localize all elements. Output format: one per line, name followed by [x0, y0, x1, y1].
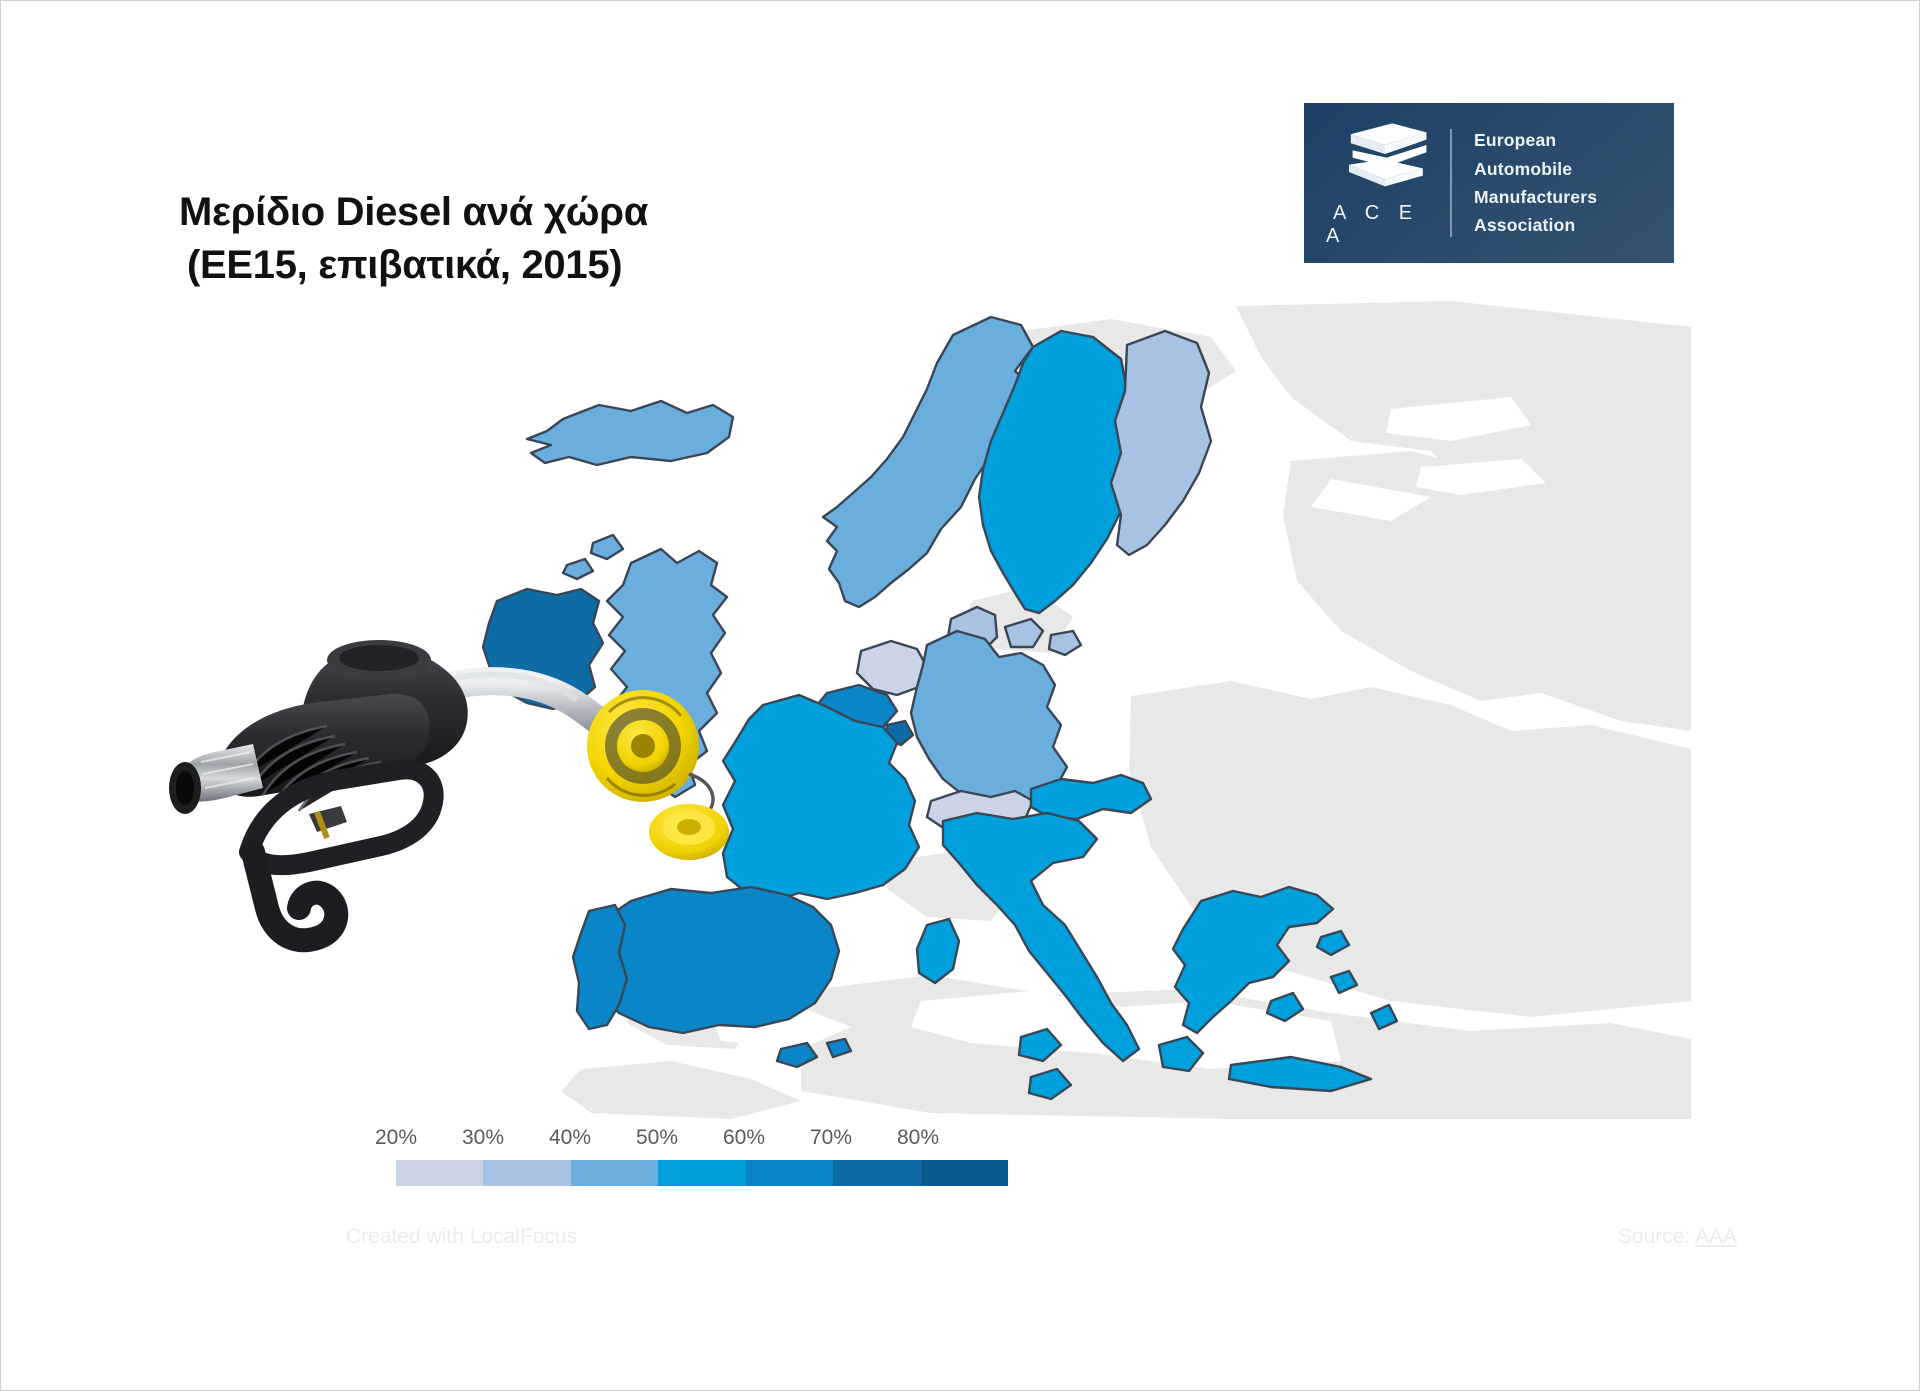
acea-tagline-line-2: Automobile — [1474, 155, 1597, 183]
legend-label-60: 60% — [723, 1126, 765, 1150]
acea-mark-column: A C E A — [1326, 118, 1444, 248]
logo-divider — [1450, 129, 1452, 237]
source-link[interactable]: AAA — [1695, 1225, 1737, 1248]
source-credit: Source: AAA — [1618, 1225, 1737, 1249]
acea-wordmark: A C E A — [1326, 202, 1444, 248]
presentation-slide: Μερίδιο Diesel ανά χώρα (ΕΕ15, επιβατικά… — [0, 0, 1920, 1391]
legend-labels: 20% 30% 40% 50% 60% 70% 80% — [346, 1126, 1011, 1160]
acea-tagline-line-1: European — [1474, 126, 1597, 154]
title-line-1: Μερίδιο Diesel ανά χώρα — [179, 186, 939, 239]
country-germany[interactable] — [911, 631, 1067, 803]
legend-label-30: 30% — [462, 1126, 504, 1150]
legend-swatch-4 — [658, 1160, 745, 1186]
fuel-nozzle-image — [141, 616, 741, 956]
legend-swatch-3 — [571, 1160, 658, 1186]
legend-label-50: 50% — [636, 1126, 678, 1150]
acea-tagline-line-3: Manufacturers — [1474, 183, 1597, 211]
country-iceland[interactable] — [527, 401, 733, 465]
legend-label-40: 40% — [549, 1126, 591, 1150]
legend-swatch-7 — [921, 1160, 1008, 1186]
map-legend: 20% 30% 40% 50% 60% 70% 80% — [346, 1126, 1011, 1186]
acea-tagline-line-4: Association — [1474, 211, 1597, 239]
legend-label-20: 20% — [375, 1126, 417, 1150]
legend-swatch-2 — [483, 1160, 570, 1186]
legend-swatch-6 — [833, 1160, 920, 1186]
acea-tagline: European Automobile Manufacturers Associ… — [1474, 126, 1597, 239]
legend-label-80: 80% — [897, 1126, 939, 1150]
country-italy-islands[interactable] — [917, 919, 959, 983]
fuel-nozzle-illustration — [141, 616, 741, 956]
country-finland[interactable] — [1111, 331, 1211, 555]
fuel-cap — [587, 690, 699, 802]
source-prefix: Source: — [1618, 1225, 1695, 1248]
legend-color-bar — [396, 1160, 1008, 1186]
acea-logo: A C E A European Automobile Manufacturer… — [1304, 103, 1674, 263]
title-line-2: (ΕΕ15, επιβατικά, 2015) — [187, 239, 939, 292]
legend-label-70: 70% — [810, 1126, 852, 1150]
created-with-credit: Created with LocalFocus — [346, 1225, 577, 1249]
fuel-cap-secondary — [649, 804, 729, 860]
legend-swatch-1 — [396, 1160, 483, 1186]
acea-stacked-blocks-icon — [1339, 118, 1431, 190]
legend-swatch-5 — [746, 1160, 833, 1186]
page-title: Μερίδιο Diesel ανά χώρα (ΕΕ15, επιβατικά… — [179, 186, 939, 292]
